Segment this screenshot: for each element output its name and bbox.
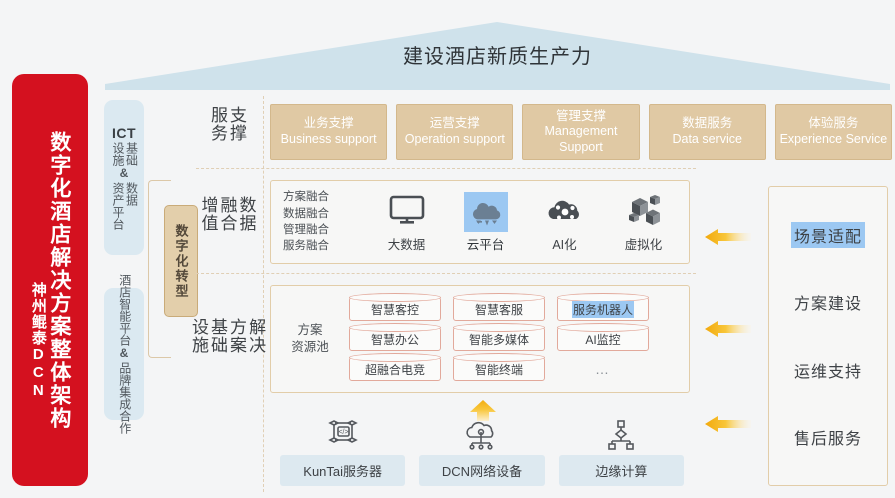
right-service-ops-support[interactable]: 运维支持 <box>791 357 865 383</box>
pill-hotel-text-b: 品牌集成合作 <box>117 362 130 434</box>
row-label-fusion-a: 数据 <box>237 196 256 232</box>
cloud-network-icon <box>460 420 504 450</box>
pill-ict-col-a: 基础 <box>124 142 137 166</box>
horizontal-divider-2 <box>196 273 696 274</box>
infra-item-edge-computing[interactable]: 边缘计算 <box>559 420 684 486</box>
resource-pool-grid: 智慧客控 智慧客服 服务机器人 智慧办公 智能多媒体 AI监控 超融合电竞 智能… <box>349 297 689 381</box>
svg-text:</>: </> <box>338 429 348 436</box>
horizontal-divider-1 <box>196 168 696 169</box>
fusion-label-bigdata: 大数据 <box>388 234 426 253</box>
pill-hotel-platform[interactable]: 酒店智能平台 & 品牌集成合作 <box>104 288 144 420</box>
support-box-management[interactable]: 管理支撑 Management Support <box>522 104 639 160</box>
right-service-after-sales[interactable]: 售后服务 <box>791 424 865 450</box>
row-label-fusion-b: 融合 <box>217 196 236 232</box>
resource-item-label: 超融合电竞 <box>365 361 425 378</box>
resource-item-label: 智慧客控 <box>371 301 419 318</box>
resource-item-label: 智能终端 <box>475 361 523 378</box>
fusion-item-cloud[interactable]: 云平台 <box>453 192 519 253</box>
support-box-data[interactable]: 数据服务 Data service <box>649 104 766 160</box>
pill-hotel-text-a: 酒店智能平台 <box>117 274 130 346</box>
infra-item-kuntai-server[interactable]: </> KunTai服务器 <box>280 420 405 486</box>
banner-sub-title: 神州鲲泰DCN <box>30 282 46 400</box>
pill-hotel-col-b: 品牌集成合作 <box>117 362 130 434</box>
support-box-experience[interactable]: 体验服务 Experience Service <box>775 104 892 160</box>
vertical-divider <box>263 96 264 492</box>
pill-ict-title: ICT <box>112 125 136 141</box>
roof-label: 建设酒店新质生产力 <box>105 40 890 69</box>
fusion-label-ai: AI化 <box>552 234 576 253</box>
pill-hotel-amp: & <box>120 346 129 362</box>
row-label-solution-c: 基础 <box>208 318 227 354</box>
infra-label-kuntai-server: KunTai服务器 <box>280 455 405 486</box>
pill-ict-text: 基础 设施 <box>111 142 138 166</box>
row-label-solution: 解决 方案 基础 设施 <box>196 318 258 354</box>
row-label-solution-b: 方案 <box>227 318 246 354</box>
resource-pool-row: 超融合电竞 智能终端 … <box>349 357 677 381</box>
resource-item-ai-monitoring[interactable]: AI监控 <box>557 327 649 351</box>
fusion-label-cloud: 云平台 <box>467 234 505 253</box>
left-arrow-icon-1 <box>705 228 751 246</box>
fusion-icon-group: 大数据 云平台 <box>367 192 689 253</box>
support-box-business[interactable]: 业务支撑 Business support <box>270 104 387 160</box>
row-label-fusion-c: 增值 <box>198 196 217 232</box>
resource-item-label: 智慧办公 <box>371 331 419 348</box>
infrastructure-row: </> KunTai服务器 DCN网络设备 <box>280 420 684 486</box>
resource-pool-row: 智慧办公 智能多媒体 AI监控 <box>349 327 677 351</box>
fusion-list: 方案融合 数据融合 管理融合 服务融合 <box>271 189 367 254</box>
pill-ict-platform[interactable]: ICT 基础 设施 & 数据 资产平台 <box>104 100 144 255</box>
resource-item-smart-terminal[interactable]: 智能终端 <box>453 357 545 381</box>
support-box-management-cn: 管理支撑 <box>556 109 606 125</box>
pill-hotel-col-a: 酒店智能平台 <box>117 274 130 346</box>
resource-item-label: 智慧客服 <box>475 301 523 318</box>
title-banner: 数字化酒店解决方案整体架构 神州鲲泰DCN <box>12 74 88 486</box>
fusion-list-item-3: 服务融合 <box>283 238 367 254</box>
architecture-diagram: 数字化酒店解决方案整体架构 神州鲲泰DCN 建设酒店新质生产力 ICT 基础 设… <box>0 0 895 498</box>
support-services-row: 业务支撑 Business support 运营支撑 Operation sup… <box>270 104 892 160</box>
cloud-sync-icon <box>464 192 508 232</box>
left-arrow-icon-2 <box>705 320 751 338</box>
digital-transformation-chip[interactable]: 数字化转型 <box>164 205 198 317</box>
support-box-management-en: Management Support <box>525 124 636 155</box>
resource-pool-label-line2: 资源池 <box>271 339 349 356</box>
resource-item-hyperconverged-esports[interactable]: 超融合电竞 <box>349 357 441 381</box>
support-box-operation-en: Operation support <box>405 132 505 148</box>
resource-item-smart-service[interactable]: 智慧客服 <box>453 297 545 321</box>
resource-item-more-ellipsis: … <box>557 357 649 381</box>
support-box-data-cn: 数据服务 <box>682 116 732 132</box>
resource-item-label: AI监控 <box>585 331 620 348</box>
resource-pool-label: 方案 资源池 <box>271 322 349 356</box>
pill-ict-col-c: 数据 <box>124 182 137 206</box>
fusion-list-item-0: 方案融合 <box>283 189 367 205</box>
pill-ict-col-b: 设施 <box>111 142 124 166</box>
ai-cloud-icon <box>543 192 587 232</box>
infra-label-dcn-network: DCN网络设备 <box>419 455 544 486</box>
roof-shape: 建设酒店新质生产力 <box>105 22 890 90</box>
resource-item-smart-room-control[interactable]: 智慧客控 <box>349 297 441 321</box>
support-box-data-en: Data service <box>672 132 741 148</box>
pill-ict-amp: & <box>120 166 129 182</box>
support-box-operation[interactable]: 运营支撑 Operation support <box>396 104 513 160</box>
resource-item-smart-multimedia[interactable]: 智能多媒体 <box>453 327 545 351</box>
row-label-support-a: 支撑 <box>227 106 246 142</box>
row-label-support: 支撑 服务 <box>196 106 258 142</box>
support-box-experience-cn: 体验服务 <box>808 116 858 132</box>
row-label-fusion: 数据 融合 增值 <box>196 196 258 232</box>
fusion-item-bigdata[interactable]: 大数据 <box>374 192 440 253</box>
fusion-item-virtualization[interactable]: 虚拟化 <box>611 192 677 253</box>
row-label-solution-d: 设施 <box>189 318 208 354</box>
resource-item-service-robot[interactable]: 服务机器人 <box>557 297 649 321</box>
resource-pool-row: 智慧客控 智慧客服 服务机器人 <box>349 297 677 321</box>
digital-transformation-label: 数字化转型 <box>172 224 191 299</box>
cubes-icon <box>622 192 666 232</box>
support-box-operation-cn: 运营支撑 <box>430 116 480 132</box>
pill-ict-text2: 数据 资产平台 <box>111 182 138 230</box>
support-box-business-cn: 业务支撑 <box>304 116 354 132</box>
server-nodes-icon: </> <box>323 420 363 450</box>
right-service-solution-construction[interactable]: 方案建设 <box>791 289 865 315</box>
edge-tree-icon <box>601 420 641 450</box>
infra-item-dcn-network[interactable]: DCN网络设备 <box>419 420 544 486</box>
fusion-label-virtualization: 虚拟化 <box>625 234 663 253</box>
left-arrow-icon-3 <box>705 415 751 433</box>
resource-item-label: 智能多媒体 <box>469 331 529 348</box>
support-box-experience-en: Experience Service <box>780 132 888 148</box>
data-fusion-panel: 方案融合 数据融合 管理融合 服务融合 大数据 <box>270 180 690 264</box>
right-services-panel: 场景适配 方案建设 运维支持 售后服务 <box>768 186 888 486</box>
resource-item-label: 服务机器人 <box>572 301 634 318</box>
row-label-solution-a: 解决 <box>246 318 265 354</box>
resource-pool-panel: 方案 资源池 智慧客控 智慧客服 服务机器人 智慧办公 智能多媒体 AI监控 超… <box>270 285 690 393</box>
resource-pool-label-line1: 方案 <box>271 322 349 339</box>
fusion-list-item-2: 管理融合 <box>283 222 367 238</box>
fusion-list-item-1: 数据融合 <box>283 206 367 222</box>
monitor-icon <box>385 192 429 232</box>
pill-ict-col-d: 资产平台 <box>111 182 124 230</box>
infra-label-edge-computing: 边缘计算 <box>559 455 684 486</box>
banner-main-title: 数字化酒店解决方案整体架构 <box>48 131 70 430</box>
fusion-item-ai[interactable]: AI化 <box>532 192 598 253</box>
resource-item-smart-office[interactable]: 智慧办公 <box>349 327 441 351</box>
right-service-scene-adaptation[interactable]: 场景适配 <box>791 222 865 248</box>
support-box-business-en: Business support <box>281 132 377 148</box>
row-label-support-b: 服务 <box>208 106 227 142</box>
